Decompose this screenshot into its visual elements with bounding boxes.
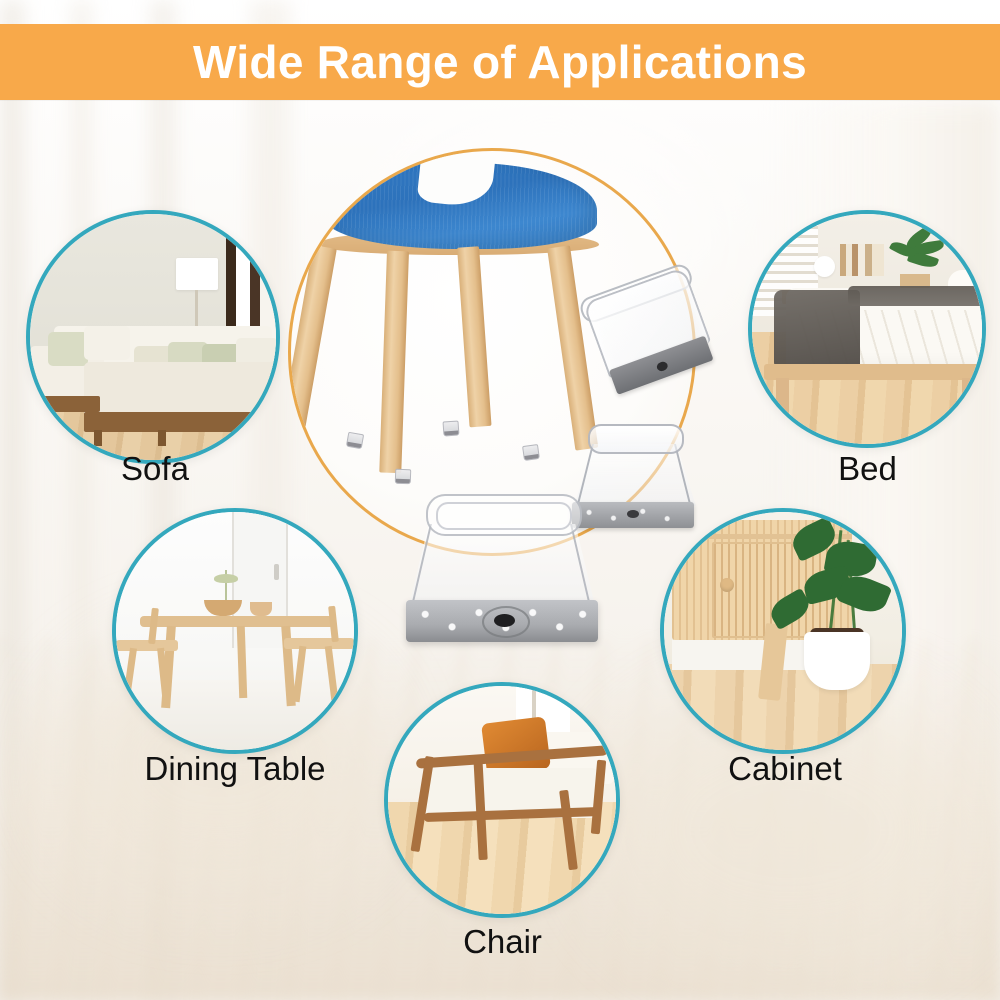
floor-lamp-shade-icon xyxy=(176,258,218,290)
header-banner: Wide Range of Applications xyxy=(0,24,1000,100)
cap-upright-vent-hole xyxy=(627,510,639,518)
stool-leg-3 xyxy=(457,246,492,427)
sofa-leg-2 xyxy=(158,430,166,446)
cap-upright-rim xyxy=(588,424,684,454)
stool-leg-2 xyxy=(379,251,409,474)
cap-front-silicone-body xyxy=(408,524,596,610)
sofa-wood-base xyxy=(84,412,270,432)
stool-leg-cap-1 xyxy=(346,432,364,450)
application-bubble-bed[interactable] xyxy=(748,210,986,448)
sofa-pillow-1 xyxy=(48,332,88,366)
bed-photo xyxy=(752,214,982,444)
dining-table-photo xyxy=(116,512,354,750)
dining-chair-left-seat xyxy=(116,640,178,651)
application-label-cabinet: Cabinet xyxy=(640,752,930,785)
dining-plant-sprig xyxy=(212,570,240,600)
stool-leg-cap-2 xyxy=(395,469,412,485)
cabinet-plant-pot xyxy=(804,632,870,690)
dining-door-handle xyxy=(274,564,279,580)
page-title: Wide Range of Applications xyxy=(193,39,807,85)
cabinet-knob-icon xyxy=(720,578,734,592)
bed-books xyxy=(840,244,884,276)
sofa-leg-1 xyxy=(94,430,102,446)
chair-photo xyxy=(388,686,616,914)
bed-gray-throw-top xyxy=(848,286,982,306)
bed-wood-frame xyxy=(764,364,982,380)
bed-leg-1 xyxy=(776,378,789,422)
dining-cup xyxy=(250,602,272,616)
application-label-chair: Chair xyxy=(370,925,635,958)
application-label-sofa: Sofa xyxy=(0,452,310,485)
application-bubble-dining-table[interactable] xyxy=(112,508,358,754)
application-bubble-chair[interactable] xyxy=(384,682,620,918)
cabinet-floor xyxy=(664,664,902,750)
dining-floor xyxy=(116,680,354,750)
sofa-photo xyxy=(30,214,276,460)
cap-front-rim-inner xyxy=(436,502,572,530)
application-label-bed: Bed xyxy=(740,452,995,485)
stool-leg-cap-3 xyxy=(442,420,459,436)
chair-orange-pillow xyxy=(481,716,551,775)
stool-leg-4 xyxy=(547,245,598,450)
product-cap-front-large xyxy=(404,494,600,652)
bed-leg-2 xyxy=(962,378,975,422)
sofa-chaise-base xyxy=(34,396,100,412)
cap-front-vent-hole xyxy=(494,614,515,627)
bed-gray-throw xyxy=(774,290,860,370)
application-bubble-sofa[interactable] xyxy=(26,210,280,464)
dining-chair-right-seat xyxy=(284,638,354,649)
application-label-dining-table: Dining Table xyxy=(80,752,390,785)
sofa-pillow-2 xyxy=(84,326,130,360)
application-bubble-cabinet[interactable] xyxy=(660,508,906,754)
bed-decor-ball xyxy=(814,256,835,277)
application-infographic: Wide Range of Applications Sofa xyxy=(0,0,1000,1000)
stool-leg-cap-4 xyxy=(522,444,540,461)
cabinet-photo xyxy=(664,512,902,750)
sofa-leg-3 xyxy=(256,430,264,446)
